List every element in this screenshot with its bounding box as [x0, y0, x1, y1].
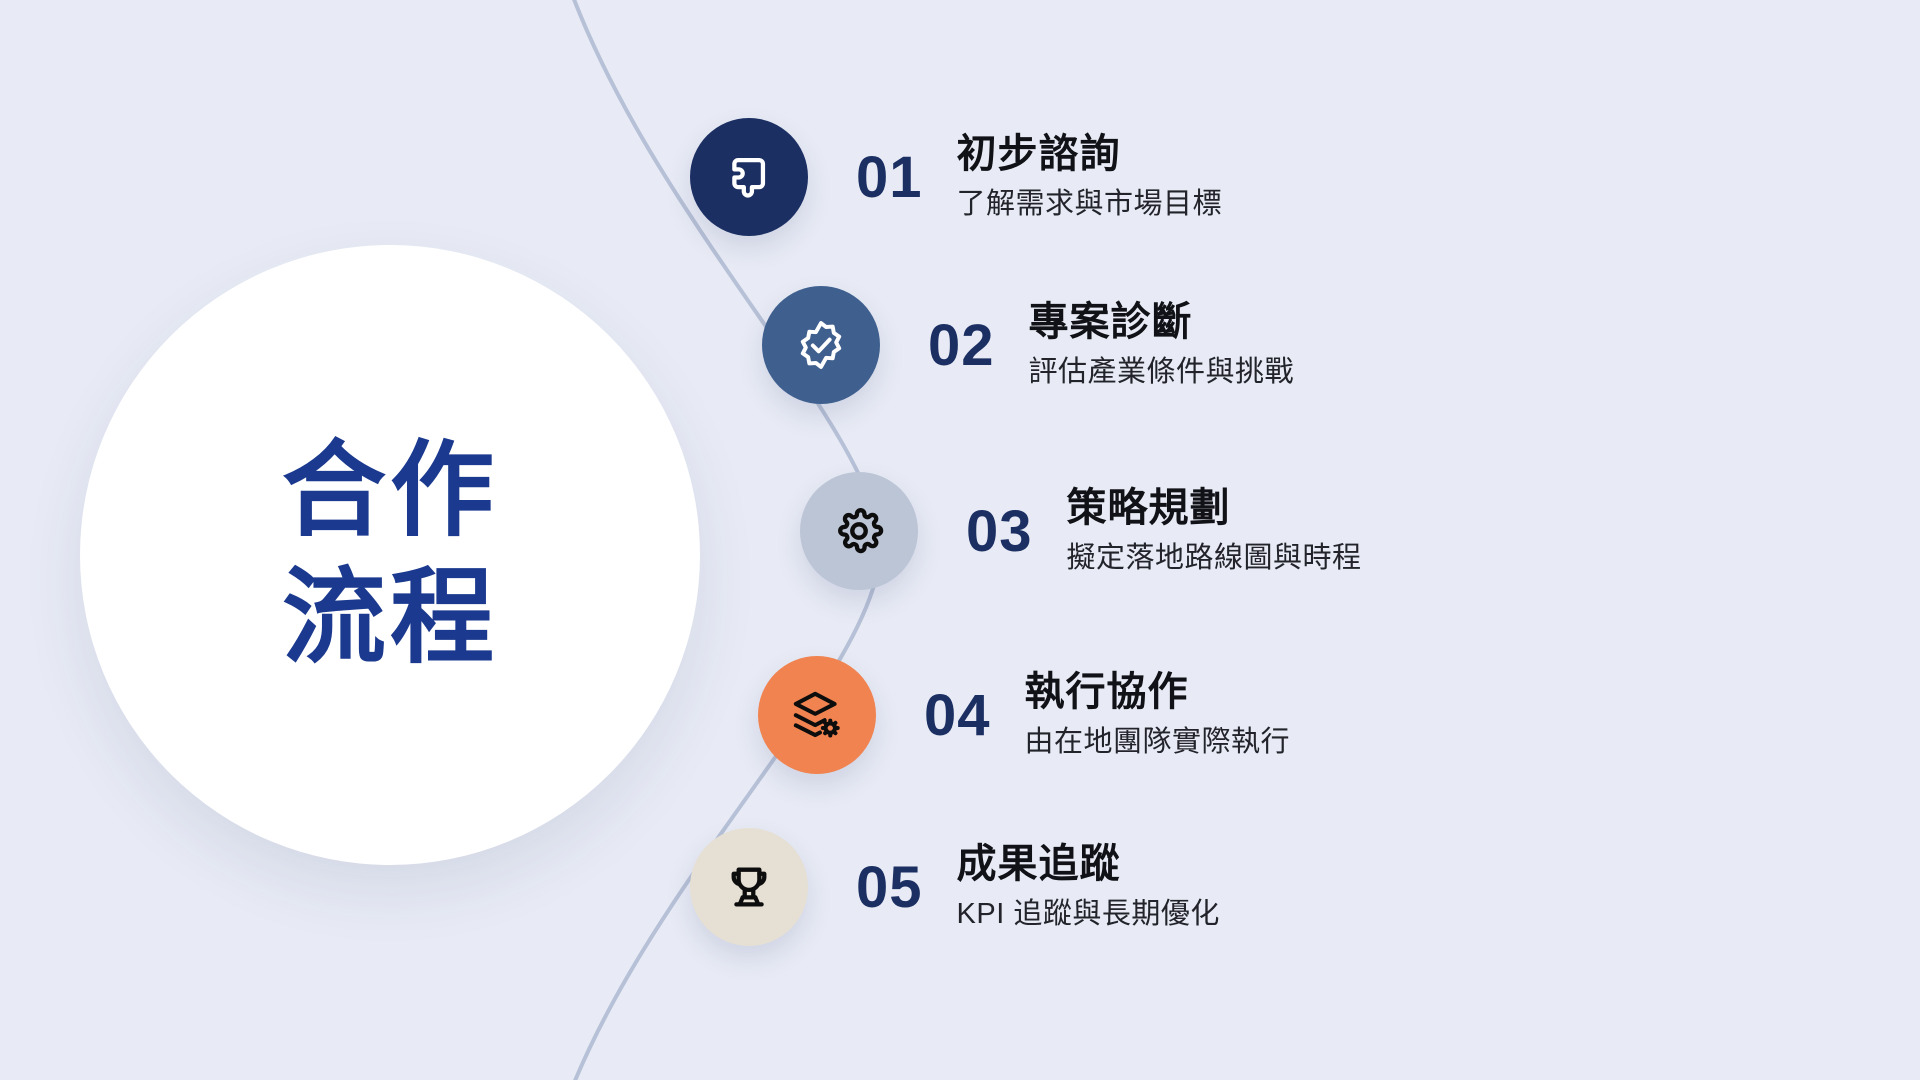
step-number-01: 01	[856, 144, 923, 211]
step-desc-04: 由在地團隊實際執行	[1025, 724, 1291, 762]
verified-badge-icon	[793, 317, 849, 373]
step-title-01: 初步諮詢	[957, 131, 1223, 178]
step-icon-circle-04[interactable]	[758, 656, 876, 774]
step-number-05: 05	[856, 854, 923, 921]
step-desc-05: KPI 追蹤與長期優化	[957, 896, 1220, 934]
step-desc-02: 評估產業條件與挑戰	[1029, 354, 1295, 392]
step-item-01[interactable]: 01 初步諮詢 了解需求與市場目標	[690, 118, 1222, 236]
step-text-05: 成果追蹤 KPI 追蹤與長期優化	[957, 841, 1220, 934]
step-text-04: 執行協作 由在地團隊實際執行	[1025, 669, 1291, 762]
steps-list: 01 初步諮詢 了解需求與市場目標 02 專案診斷 評估產業條件與挑戰	[0, 0, 1920, 1080]
step-desc-01: 了解需求與市場目標	[957, 186, 1223, 224]
step-title-04: 執行協作	[1025, 669, 1291, 716]
step-text-02: 專案診斷 評估產業條件與挑戰	[1029, 299, 1295, 392]
gear-icon	[833, 505, 885, 557]
trophy-icon	[722, 860, 776, 914]
step-title-03: 策略規劃	[1067, 485, 1362, 532]
step-desc-03: 擬定落地路線圖與時程	[1067, 540, 1362, 578]
step-icon-circle-01[interactable]	[690, 118, 808, 236]
step-item-04[interactable]: 04 執行協作 由在地團隊實際執行	[758, 656, 1290, 774]
step-icon-circle-05[interactable]	[690, 828, 808, 946]
layers-gear-icon	[790, 688, 844, 742]
step-text-03: 策略規劃 擬定落地路線圖與時程	[1067, 485, 1362, 578]
step-title-05: 成果追蹤	[957, 841, 1220, 888]
slide-root: 合作 流程 01 初步諮詢 了解需求與市場目標	[0, 0, 1920, 1080]
step-icon-circle-03[interactable]	[800, 472, 918, 590]
step-icon-circle-02[interactable]	[762, 286, 880, 404]
step-text-01: 初步諮詢 了解需求與市場目標	[957, 131, 1223, 224]
step-item-03[interactable]: 03 策略規劃 擬定落地路線圖與時程	[800, 472, 1362, 590]
step-number-03: 03	[966, 498, 1033, 565]
step-number-04: 04	[924, 682, 991, 749]
step-number-02: 02	[928, 312, 995, 379]
step-title-02: 專案診斷	[1029, 299, 1295, 346]
step-item-05[interactable]: 05 成果追蹤 KPI 追蹤與長期優化	[690, 828, 1220, 946]
puzzle-piece-icon	[722, 150, 776, 204]
step-item-02[interactable]: 02 專案診斷 評估產業條件與挑戰	[762, 286, 1294, 404]
